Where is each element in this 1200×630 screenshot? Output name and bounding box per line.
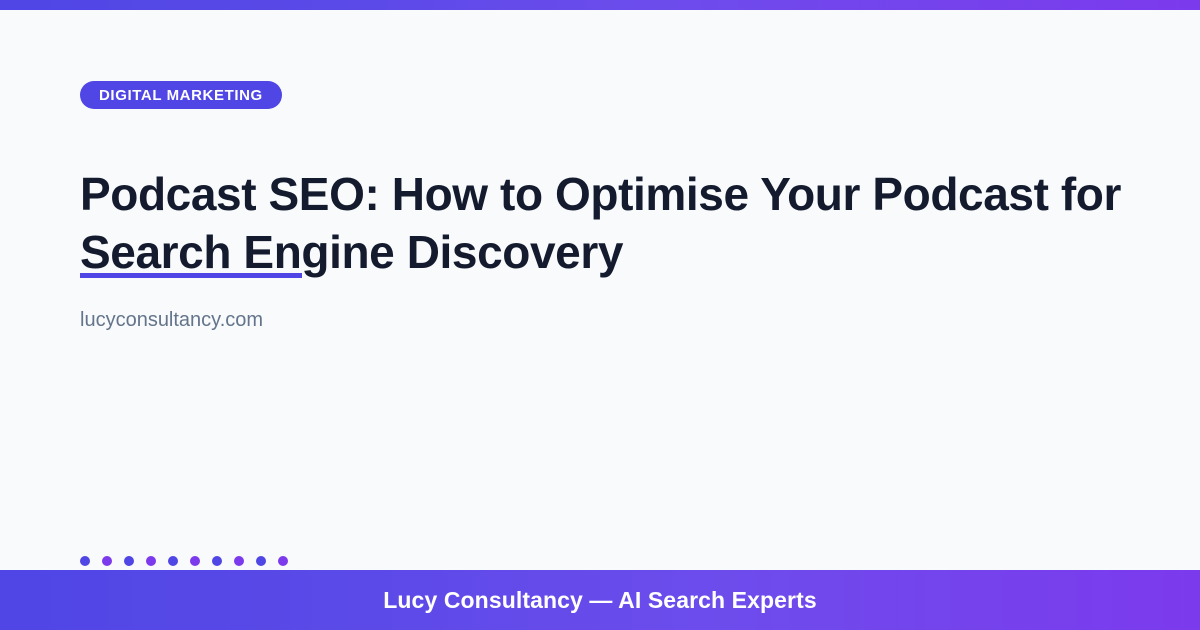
dot-indicator xyxy=(102,556,112,566)
page-title-line-1: Podcast SEO: How to Optimise Your Podcas… xyxy=(80,165,1200,223)
source-url: lucyconsultancy.com xyxy=(80,308,263,332)
category-badge-label: DIGITAL MARKETING xyxy=(99,88,263,103)
dot-indicator xyxy=(212,556,222,566)
dot-indicator xyxy=(168,556,178,566)
decorative-dot-row xyxy=(80,556,288,566)
footer-brand-bar: Lucy Consultancy — AI Search Experts xyxy=(0,570,1200,630)
dot-indicator xyxy=(278,556,288,566)
dot-indicator xyxy=(146,556,156,566)
category-badge: DIGITAL MARKETING xyxy=(80,81,282,109)
social-share-card: DIGITAL MARKETING Podcast SEO: How to Op… xyxy=(0,0,1200,630)
page-title: Podcast SEO: How to Optimise Your Podcas… xyxy=(80,165,1200,281)
dot-indicator xyxy=(256,556,266,566)
headline-accent-rule xyxy=(80,273,302,278)
dot-indicator xyxy=(124,556,134,566)
dot-indicator xyxy=(234,556,244,566)
top-gradient-bar xyxy=(0,0,1200,10)
footer-brand-text: Lucy Consultancy — AI Search Experts xyxy=(383,589,817,612)
dot-indicator xyxy=(190,556,200,566)
dot-indicator xyxy=(80,556,90,566)
